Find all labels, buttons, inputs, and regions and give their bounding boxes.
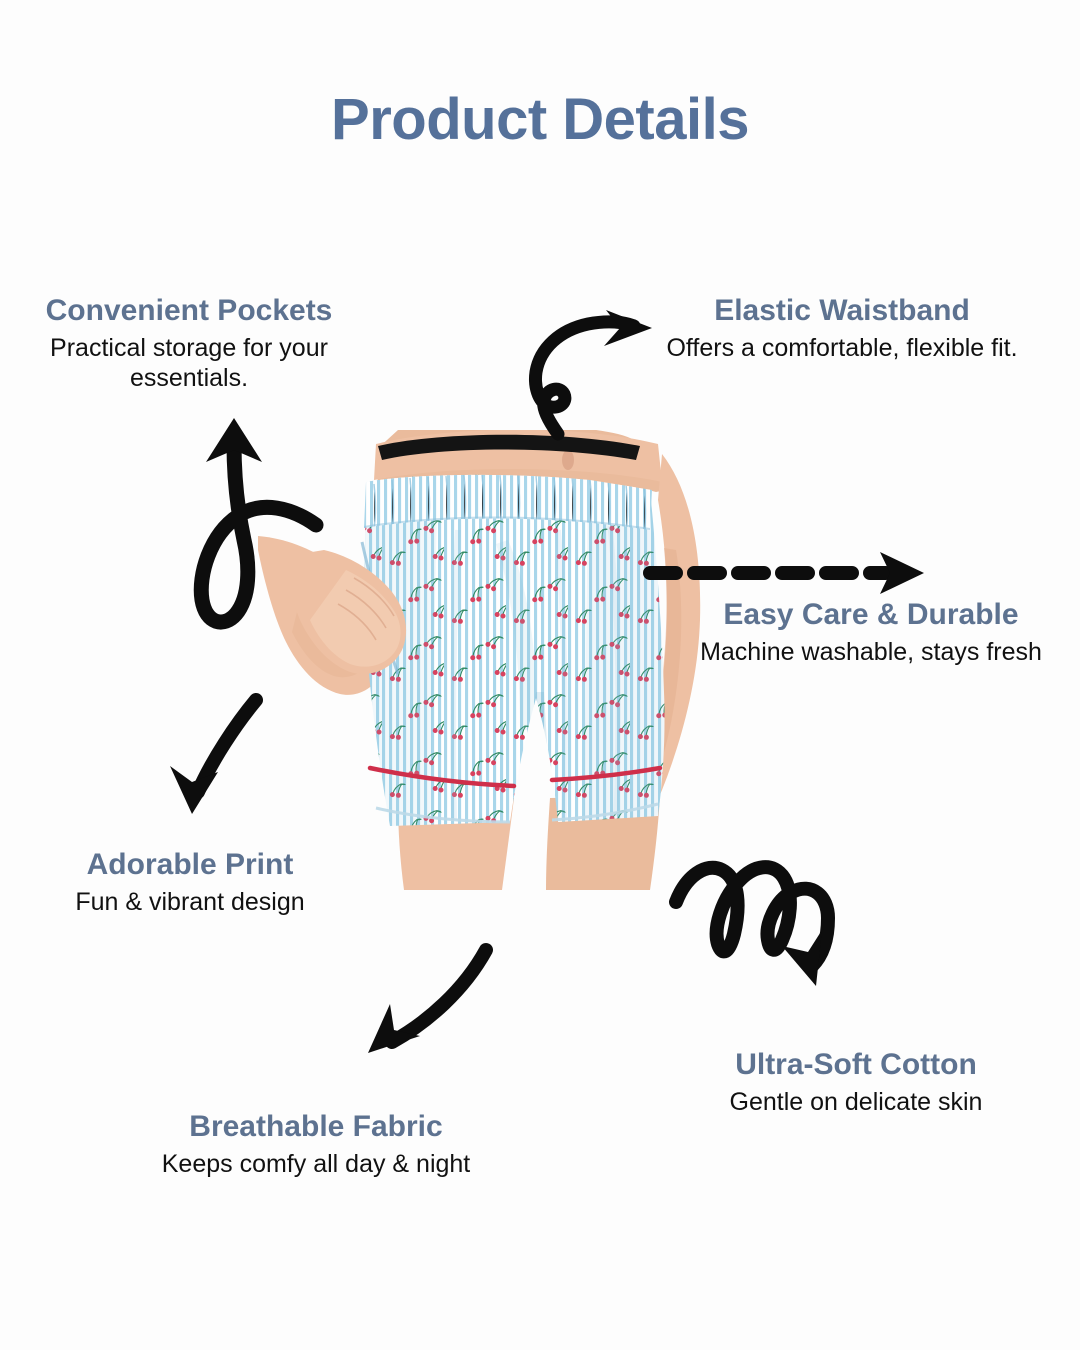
callout-ultra-soft-cotton: Ultra-Soft Cotton Gentle on delicate ski… — [656, 1048, 1056, 1117]
callout-heading: Easy Care & Durable — [676, 598, 1066, 633]
curved-arrow-down-left-long-head-icon — [368, 1004, 420, 1053]
page-title: Product Details — [0, 86, 1080, 153]
callout-elastic-waistband: Elastic Waistband Offers a comfortable, … — [604, 294, 1080, 363]
callout-breathable-fabric: Breathable Fabric Keeps comfy all day & … — [96, 1110, 536, 1179]
callout-heading: Breathable Fabric — [96, 1110, 536, 1145]
callout-heading: Adorable Print — [20, 848, 360, 883]
callout-description: Machine washable, stays fresh — [676, 637, 1066, 668]
callout-easy-care-durable: Easy Care & Durable Machine washable, st… — [676, 598, 1066, 667]
callout-convenient-pockets: Convenient Pockets Practical storage for… — [0, 294, 378, 394]
callout-description: Practical storage for your essentials. — [0, 333, 378, 394]
infographic-page: Product Details — [0, 0, 1080, 1350]
callout-heading: Convenient Pockets — [0, 294, 378, 329]
curved-arrow-down-left-head-icon — [170, 766, 218, 814]
looping-arrow-up-head-icon — [206, 418, 262, 462]
callout-description: Fun & vibrant design — [20, 887, 360, 918]
callout-adorable-print: Adorable Print Fun & vibrant design — [20, 848, 360, 917]
callout-description: Offers a comfortable, flexible fit. — [604, 333, 1080, 364]
curved-arrow-down-left-long-icon — [392, 950, 486, 1042]
callout-heading: Ultra-Soft Cotton — [656, 1048, 1056, 1083]
callout-description: Keeps comfy all day & night — [96, 1149, 536, 1180]
callout-heading: Elastic Waistband — [604, 294, 1080, 329]
curved-arrow-down-left-icon — [198, 700, 256, 792]
squiggle-arrow-down-head-icon — [782, 930, 822, 986]
callout-description: Gentle on delicate skin — [656, 1087, 1056, 1118]
